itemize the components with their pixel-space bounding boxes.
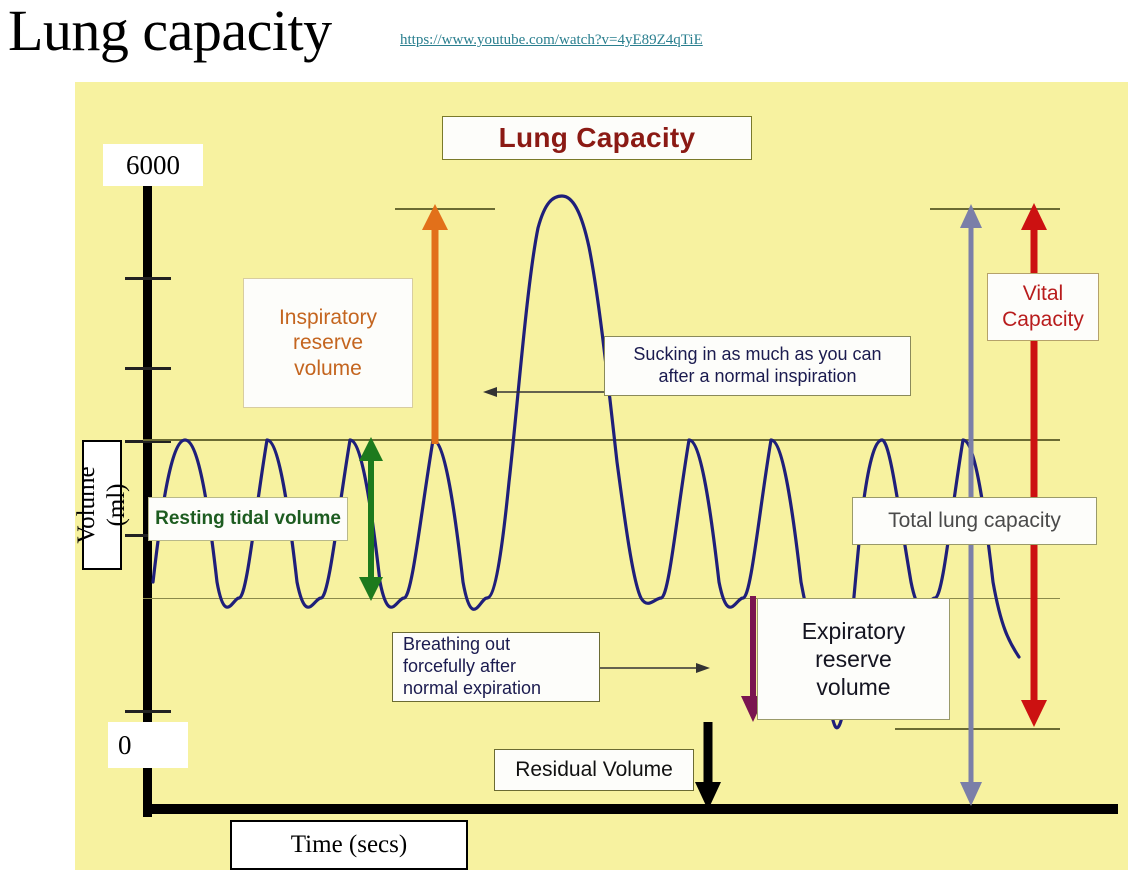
- youtube-link[interactable]: https://www.youtube.com/watch?v=4yE89Z4q…: [400, 32, 703, 49]
- residual-volume-arrow: [690, 722, 726, 812]
- sucking-in-line-1: Sucking in as much as you can: [633, 344, 881, 366]
- vital-capacity-label: Vital Capacity: [987, 273, 1099, 341]
- erv-line-1: Expiratory: [802, 617, 906, 645]
- vital-capacity-line-2: Capacity: [1002, 307, 1084, 333]
- residual-volume-label: Residual Volume: [494, 749, 694, 791]
- erv-line-2: reserve: [815, 645, 892, 673]
- irv-line-3: volume: [294, 356, 362, 382]
- irv-line-1: Inspiratory: [279, 305, 377, 331]
- vital-capacity-line-1: Vital: [1023, 281, 1063, 307]
- breathing-out-line-1: Breathing out: [403, 634, 510, 656]
- lung-capacity-figure: Lung Capacity: [75, 82, 1128, 870]
- sucking-in-annotation: Sucking in as much as you can after a no…: [604, 336, 911, 396]
- sucking-in-line-2: after a normal inspiration: [658, 366, 856, 388]
- y-axis-min-label: 0: [108, 722, 188, 768]
- y-axis-max-label: 6000: [103, 144, 203, 186]
- breathing-out-connector-arrow: [600, 658, 712, 678]
- total-lung-capacity-label: Total lung capacity: [852, 497, 1097, 545]
- sucking-in-connector-arrow: [481, 382, 607, 402]
- expiratory-reserve-volume-label: Expiratory reserve volume: [757, 598, 950, 720]
- inspiratory-reserve-volume-arrow: [415, 200, 455, 448]
- x-axis-title: Time (secs): [230, 820, 468, 870]
- slide-page: Lung capacity https://www.youtube.com/wa…: [0, 0, 1128, 870]
- page-title: Lung capacity: [8, 0, 332, 66]
- breathing-out-line-3: normal expiration: [403, 678, 541, 700]
- resting-tidal-volume-label: Resting tidal volume: [148, 497, 348, 541]
- inspiratory-reserve-volume-label: Inspiratory reserve volume: [243, 278, 413, 408]
- breathing-out-annotation: Breathing out forcefully after normal ex…: [392, 632, 600, 702]
- irv-line-2: reserve: [293, 330, 363, 356]
- resting-tidal-volume-arrow: [353, 434, 389, 604]
- erv-line-3: volume: [816, 673, 890, 701]
- breathing-out-line-2: forcefully after: [403, 656, 516, 678]
- y-axis-title: Volume (ml): [82, 440, 122, 570]
